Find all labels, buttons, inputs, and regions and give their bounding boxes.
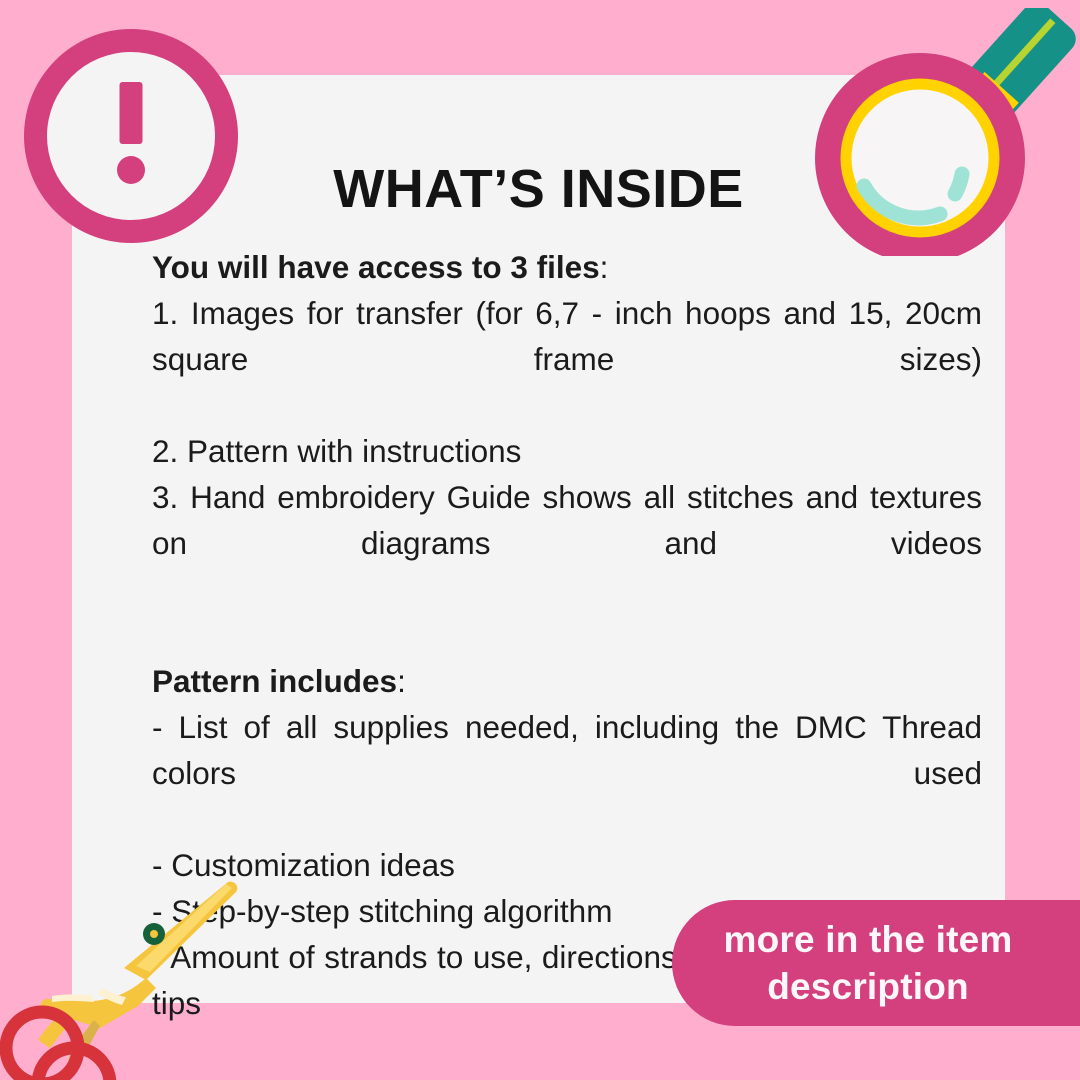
content-block: You will have access to 3 files: 1. Imag… xyxy=(152,244,982,612)
content-line: 2. Pattern with instructions xyxy=(152,428,982,474)
block-lede-tail: : xyxy=(600,249,609,285)
block-lede: Pattern includes: xyxy=(152,658,982,704)
exclamation-icon-inner xyxy=(47,52,215,220)
content-line: - Customization ideas xyxy=(152,842,982,888)
magnifying-glass-icon xyxy=(812,8,1080,256)
content-line: 1. Images for transfer (for 6,7 - inch h… xyxy=(152,290,982,428)
content-line: - List of all supplies needed, including… xyxy=(152,704,982,842)
exclamation-dot xyxy=(117,156,145,184)
content-line: 3. Hand embroidery Guide shows all stitc… xyxy=(152,474,982,612)
magnifier-inner-ring xyxy=(846,84,994,232)
block-lede-text: You will have access to 3 files xyxy=(152,249,600,285)
magnifier-glint-tick xyxy=(955,174,962,194)
cta-button[interactable]: more in the item description xyxy=(672,900,1080,1026)
scissors-blade-lower-highlight xyxy=(52,994,94,1002)
block-lede-text: Pattern includes xyxy=(152,663,397,699)
exclamation-bar xyxy=(120,82,143,144)
poster: WHAT’S INSIDE You will have access to 3 … xyxy=(0,0,1080,1080)
scissors-icon xyxy=(0,868,266,1080)
block-lede-tail: : xyxy=(397,663,406,699)
cta-label: more in the item description xyxy=(706,916,1030,1010)
exclamation-circle-icon xyxy=(24,29,238,243)
scissors-eye-pupil xyxy=(150,930,158,938)
